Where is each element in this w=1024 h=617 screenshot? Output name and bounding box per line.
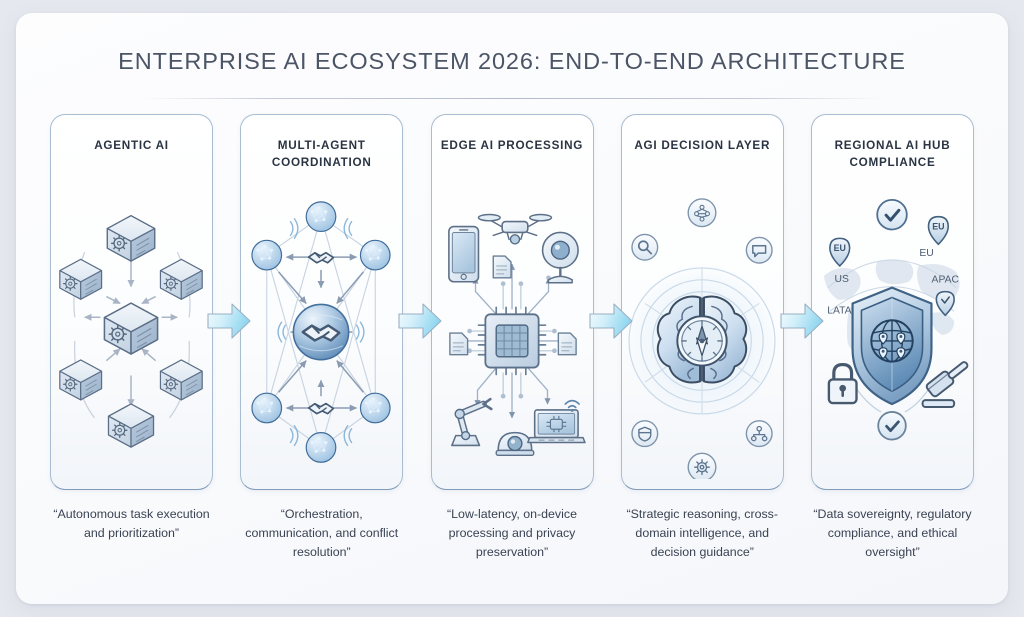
stage-panel-row: AGENTIC AI [50, 114, 974, 490]
flow-arrow-1 [206, 298, 252, 344]
stage-header-multi-agent-coordination: MULTI-AGENT COORDINATION [247, 137, 396, 171]
illustration-network-spheres [245, 193, 398, 479]
caption-multi-agent-coordination: “Orchestration, communication, and confl… [240, 505, 403, 562]
caption-agi-decision-layer: “Strategic reasoning, cross-domain intel… [621, 505, 784, 562]
svg-text:EU: EU [834, 243, 846, 253]
illustration-cpu-edge-devices [436, 193, 589, 479]
stage-header-agentic-ai: AGENTIC AI [57, 137, 206, 154]
page-title: ENTERPRISE AI ECOSYSTEM 2026: END-TO-END… [16, 48, 1008, 75]
stage-panel-multi-agent-coordination[interactable]: MULTI-AGENT COORDINATION [240, 114, 403, 490]
title-divider [140, 98, 884, 99]
region-pin-eu: EU EU [919, 217, 948, 259]
check-badge-top [877, 200, 907, 230]
illustration-brain-compass [626, 193, 779, 479]
caption-regional-ai-hub-compliance: “Data sovereignty, regulatory compliance… [811, 505, 974, 562]
svg-text:US: US [835, 274, 849, 285]
stage-panel-edge-ai-processing[interactable]: EDGE AI PROCESSING [431, 114, 594, 490]
page-title-wrap: ENTERPRISE AI ECOSYSTEM 2026: END-TO-END… [16, 48, 1008, 75]
flow-arrow-3 [588, 298, 634, 344]
illustration-isometric-cubes [55, 193, 208, 479]
svg-text:EU: EU [932, 221, 944, 231]
infographic-card: ENTERPRISE AI ECOSYSTEM 2026: END-TO-END… [16, 13, 1008, 604]
stage-panel-agi-decision-layer[interactable]: AGI DECISION LAYER [621, 114, 784, 490]
svg-text:EU: EU [919, 248, 933, 259]
caption-edge-ai-processing: “Low-latency, on-device processing and p… [431, 505, 594, 562]
stage-header-agi-decision-layer: AGI DECISION LAYER [628, 137, 777, 154]
stage-panel-regional-ai-hub-compliance[interactable]: REGIONAL AI HUB COMPLIANCE [811, 114, 974, 490]
caption-row: “Autonomous task execution and prioritiz… [50, 505, 974, 562]
flow-arrow-2 [397, 298, 443, 344]
stage-panel-agentic-ai[interactable]: AGENTIC AI [50, 114, 213, 490]
caption-agentic-ai: “Autonomous task execution and prioritiz… [50, 505, 213, 562]
svg-text:APAC: APAC [932, 275, 960, 286]
stage-header-regional-ai-hub-compliance: REGIONAL AI HUB COMPLIANCE [818, 137, 967, 171]
illustration-globe-shield-regions: EU US EU EU APAC LATAM [816, 193, 969, 479]
flow-arrow-4 [779, 298, 825, 344]
lock-glyph [829, 365, 857, 403]
check-badge-bottom [878, 412, 906, 440]
stage-header-edge-ai-processing: EDGE AI PROCESSING [438, 137, 587, 154]
